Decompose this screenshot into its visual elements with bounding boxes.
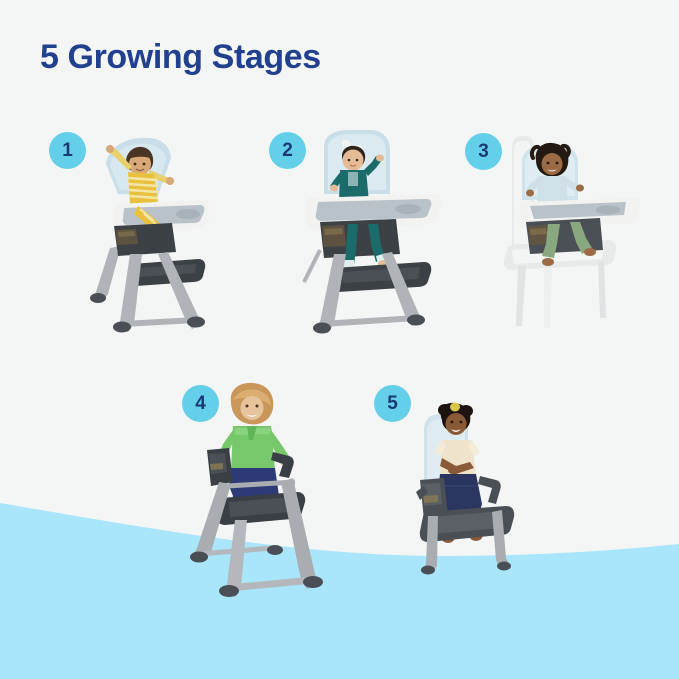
stage-3-booster-on-dining-chair — [500, 128, 650, 336]
stage-badge-1: 1 — [49, 132, 86, 169]
stage-badge-5: 5 — [374, 385, 411, 422]
stage-badge-2: 2 — [269, 132, 306, 169]
page-title: 5 Growing Stages — [40, 38, 321, 77]
stage-5-youth-chair — [410, 400, 545, 595]
stage-badge-4: 4 — [182, 385, 219, 422]
stage-1-infant-highchair-reclined — [88, 126, 263, 336]
infographic-canvas: 5 Growing Stages 1 — [0, 0, 679, 679]
stage-badge-3: 3 — [465, 133, 502, 170]
stage-2-highchair-upright — [296, 126, 471, 336]
